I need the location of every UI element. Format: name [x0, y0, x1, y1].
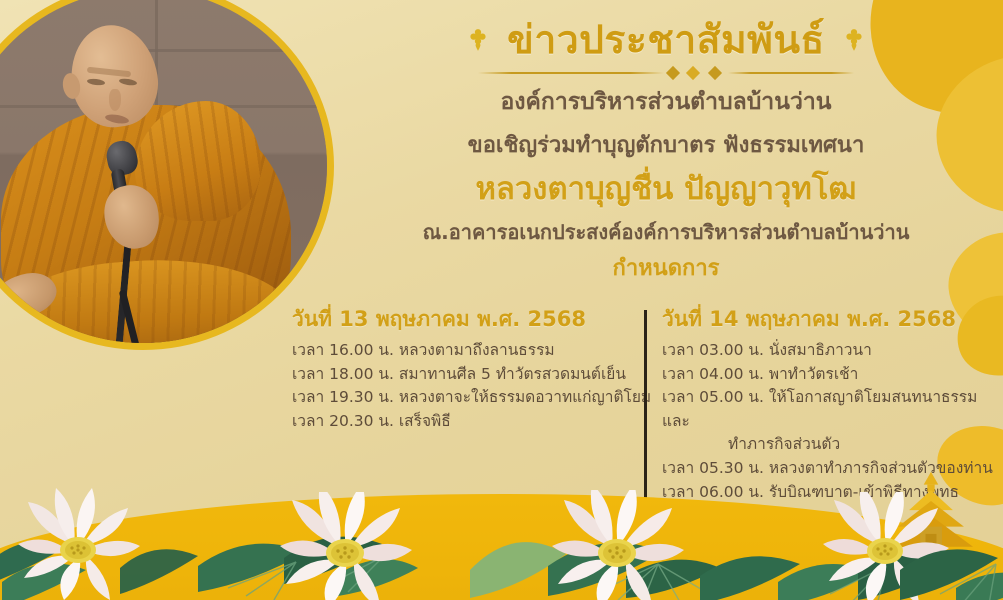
agenda-heading: กำหนดการ	[336, 255, 996, 284]
quatrefoil-ornament-right-icon	[841, 28, 867, 54]
announcement-poster: ข่าวประชาสัมพันธ์ องค์การบริหารส่วนตำบลบ…	[0, 0, 1003, 600]
title-underline-ornament	[478, 67, 854, 79]
monk-photo	[0, 0, 327, 343]
day2-event: เวลา 04.00 น. พาทำวัตรเช้า	[662, 363, 993, 387]
day2-event: เวลา 03.00 น. นั่งสมาธิภาวนา	[662, 339, 993, 363]
thai-pagoda-ornament-icon	[885, 470, 977, 554]
quatrefoil-ornament-left-icon	[465, 28, 491, 54]
day1-event: เวลา 18.00 น. สมาทานศีล 5 ทำวัตรสวดมนต์เ…	[292, 363, 636, 387]
venue-line: ณ.อาคารอเนกประสงค์องค์การบริหารส่วนตำบลบ…	[336, 218, 996, 247]
invitation-line: ขอเชิญร่วมทำบุญตักบาตร ฟังธรรมเทศนา	[336, 129, 996, 162]
monk-name: หลวงตาบุญชื่น ปัญญาวุทโฒ	[336, 168, 996, 211]
page-title: ข่าวประชาสัมพันธ์	[507, 18, 825, 64]
day2-title: วันที่ 14 พฤษภาคม พ.ศ. 2568	[662, 306, 993, 333]
day1-event: เวลา 19.30 น. หลวงตาจะให้ธรรมดอวาทแก่ญาต…	[292, 386, 636, 410]
day1-event: เวลา 16.00 น. หลวงตามาถึงลานธรรม	[292, 339, 636, 363]
day2-event-cont: ทำภารกิจส่วนตัว	[662, 433, 993, 457]
title-row: ข่าวประชาสัมพันธ์	[336, 18, 996, 64]
poster-header: ข่าวประชาสัมพันธ์ องค์การบริหารส่วนตำบลบ…	[336, 18, 996, 284]
day1-event: เวลา 20.30 น. เสร็จพิธี	[292, 410, 636, 434]
day1-title: วันที่ 13 พฤษภาคม พ.ศ. 2568	[292, 306, 636, 333]
organization-name: องค์การบริหารส่วนตำบลบ้านว่าน	[336, 85, 996, 120]
day2-event: เวลา 05.00 น. ให้โอกาสญาติโยมสนทนาธรรมแล…	[662, 386, 993, 457]
monk-photo-frame	[0, 0, 334, 350]
day2-event-text: เวลา 05.00 น. ให้โอกาสญาติโยมสนทนาธรรมแล…	[662, 388, 977, 430]
